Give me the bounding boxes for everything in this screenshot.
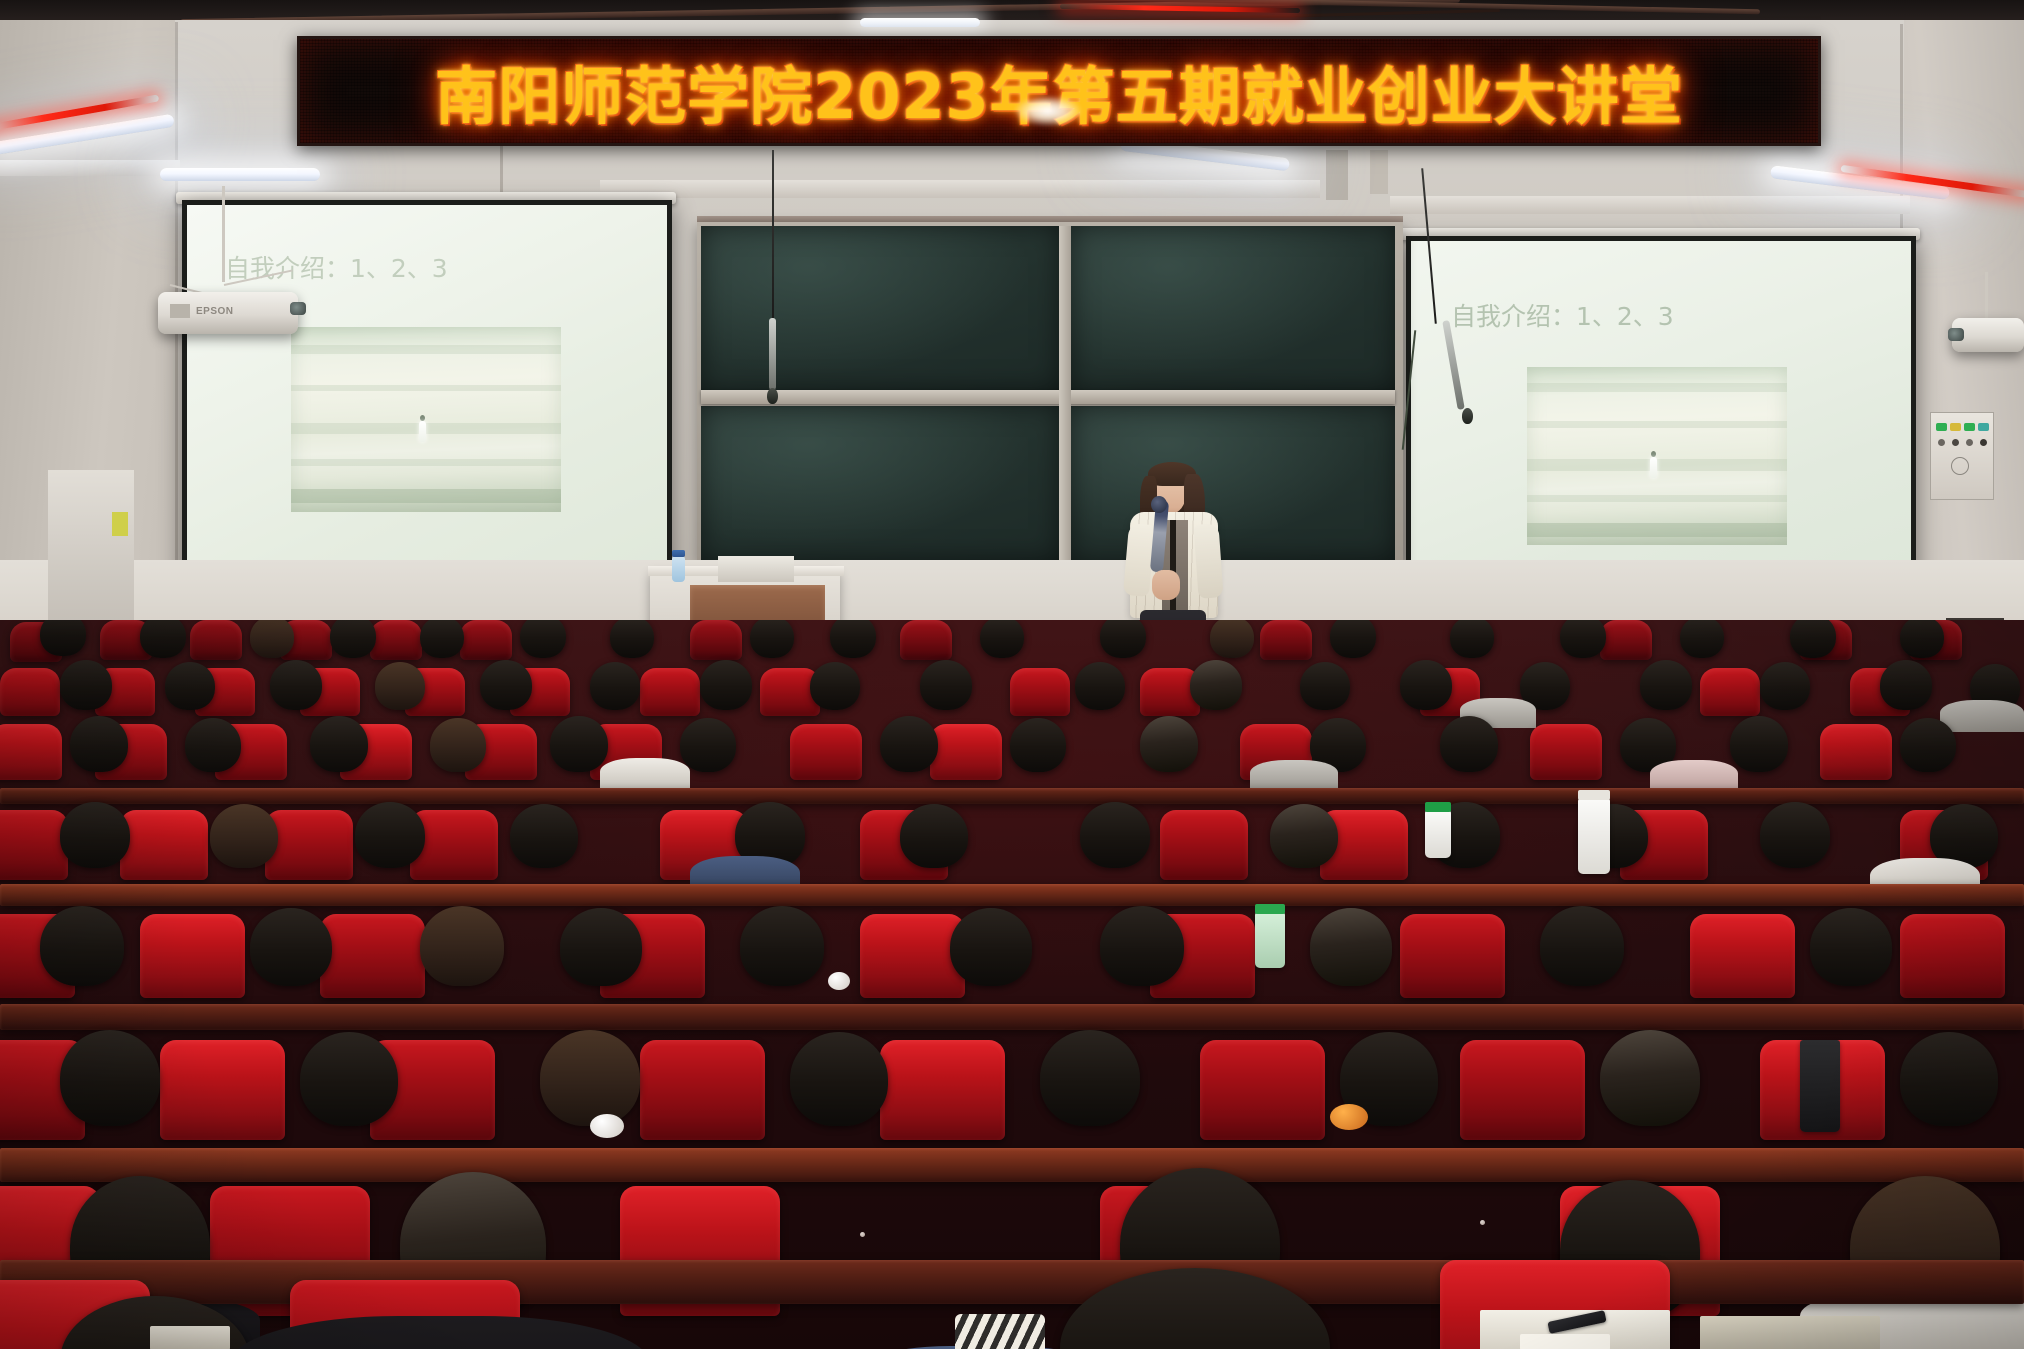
audience-head bbox=[1790, 620, 1836, 658]
wall-panel-left-tag bbox=[112, 512, 128, 536]
hair-tie bbox=[590, 1114, 624, 1138]
soffit-right bbox=[1390, 196, 1910, 214]
beam-bracket-2 bbox=[1370, 150, 1388, 194]
seat[interactable] bbox=[640, 1040, 765, 1140]
audience-head bbox=[950, 908, 1032, 986]
speaker-hands bbox=[1152, 570, 1180, 600]
hanging-mic-body bbox=[769, 318, 776, 390]
left-projector: EPSON bbox=[158, 292, 298, 334]
seat[interactable] bbox=[1690, 914, 1795, 998]
audience-head bbox=[880, 716, 938, 772]
audience-head bbox=[310, 716, 368, 772]
desk-thermos bbox=[1578, 798, 1610, 874]
audience-head bbox=[1330, 620, 1376, 658]
blackboard-panel-top-right bbox=[1071, 226, 1395, 390]
audience-head bbox=[1075, 662, 1125, 710]
right-slide-title: 自我介绍：1、2、3 bbox=[1451, 297, 1674, 333]
audience-head bbox=[1190, 660, 1242, 710]
desk-bottle-cap bbox=[1425, 802, 1451, 812]
desk-paper-left bbox=[150, 1326, 230, 1349]
audience-head bbox=[1100, 906, 1184, 986]
audience-head bbox=[210, 804, 278, 868]
seat[interactable] bbox=[0, 724, 62, 780]
audience-head bbox=[1450, 620, 1494, 658]
audience-head bbox=[430, 718, 486, 772]
blackboard bbox=[697, 222, 1403, 564]
seat[interactable] bbox=[640, 668, 700, 716]
seat[interactable] bbox=[160, 1040, 285, 1140]
audience-head bbox=[375, 662, 425, 710]
audience-head bbox=[590, 662, 640, 710]
audience-head bbox=[60, 660, 112, 710]
left-projector-mount bbox=[222, 186, 225, 282]
left-projector-brand: EPSON bbox=[196, 306, 234, 317]
hanging-mic-cable bbox=[772, 150, 774, 318]
seat[interactable] bbox=[120, 810, 208, 880]
desk-thermos-cap bbox=[1578, 790, 1610, 800]
indicator-yellow bbox=[1950, 423, 1961, 431]
audience-head bbox=[1900, 718, 1956, 772]
right-projector-mount bbox=[1985, 272, 1988, 320]
audience-head bbox=[610, 620, 654, 658]
audience-head bbox=[510, 804, 578, 868]
audience-head bbox=[680, 718, 736, 772]
right-projector-lens bbox=[1948, 328, 1964, 341]
blackboard-chalk-rail bbox=[701, 390, 1395, 404]
audience-head bbox=[60, 1030, 160, 1126]
audience-head bbox=[40, 906, 124, 986]
seat[interactable] bbox=[1160, 810, 1248, 880]
right-projection-screen: 自我介绍：1、2、3 bbox=[1406, 236, 1916, 608]
audience-area bbox=[0, 620, 2024, 1349]
audience-head bbox=[1080, 802, 1150, 868]
seat[interactable] bbox=[880, 1040, 1005, 1140]
audience-head bbox=[1040, 1030, 1140, 1126]
desk-bottle-cap bbox=[1255, 904, 1285, 914]
desk-bottle bbox=[1255, 912, 1285, 968]
audience-head bbox=[790, 1032, 888, 1126]
desk-bottle bbox=[1425, 810, 1451, 858]
seat[interactable] bbox=[1010, 668, 1070, 716]
power-icon[interactable] bbox=[1951, 457, 1969, 475]
audience-head bbox=[1680, 620, 1724, 658]
audience-head bbox=[300, 1032, 398, 1126]
audience-head bbox=[810, 662, 860, 710]
left-screen-surface: 自我介绍：1、2、3 bbox=[187, 205, 667, 595]
audience-head bbox=[1140, 716, 1198, 772]
hair-tie bbox=[1330, 1104, 1368, 1130]
left-projection-screen: 自我介绍：1、2、3 bbox=[182, 200, 672, 600]
audience-head bbox=[185, 718, 241, 772]
light-switch-panel[interactable] bbox=[1930, 412, 1994, 500]
seat[interactable] bbox=[1260, 620, 1312, 660]
speaker-jacket-placket bbox=[1170, 520, 1176, 616]
hair-tie bbox=[828, 972, 850, 990]
seat[interactable] bbox=[1530, 724, 1602, 780]
audience-head bbox=[830, 620, 876, 658]
audience-head bbox=[1600, 1030, 1700, 1126]
audience-head bbox=[1760, 662, 1810, 710]
fluorescent-tube-small-1 bbox=[860, 18, 980, 27]
left-slide-title: 自我介绍：1、2、3 bbox=[225, 249, 448, 285]
audience-head bbox=[750, 620, 794, 658]
blackboard-panel-top-left bbox=[701, 226, 1059, 390]
seat[interactable] bbox=[900, 620, 952, 660]
left-projector-vent bbox=[170, 304, 190, 318]
audience-head bbox=[1310, 908, 1392, 986]
audience-head bbox=[1210, 620, 1254, 658]
row-desk bbox=[0, 1004, 2024, 1030]
desk-thermos bbox=[1800, 1040, 1840, 1132]
audience-head bbox=[920, 660, 972, 710]
audience-head bbox=[1900, 1032, 1998, 1126]
right-screen-surface: 自我介绍：1、2、3 bbox=[1411, 241, 1911, 603]
audience-head bbox=[250, 908, 332, 986]
row-desk bbox=[0, 884, 2024, 906]
seat[interactable] bbox=[1820, 724, 1892, 780]
audience-head bbox=[1400, 660, 1452, 710]
audience-head bbox=[420, 620, 464, 658]
left-slide-photo bbox=[291, 327, 561, 512]
seat[interactable] bbox=[1600, 620, 1652, 660]
audience-head bbox=[540, 1030, 640, 1126]
audience-head bbox=[165, 662, 215, 710]
seat[interactable] bbox=[1460, 1040, 1585, 1140]
fluorescent-tube-left-2 bbox=[160, 168, 320, 181]
audience-head bbox=[420, 906, 504, 986]
switch-button-1[interactable] bbox=[1938, 439, 1945, 446]
podium-bottle-cap bbox=[672, 550, 685, 557]
banner-light-glare bbox=[1015, 96, 1081, 126]
audience-head bbox=[1760, 802, 1830, 868]
hanging-mic-capsule-2 bbox=[1462, 408, 1473, 424]
audience-head bbox=[1540, 906, 1624, 986]
beam-bracket-1 bbox=[1326, 150, 1348, 200]
blackboard-panel-bottom-left bbox=[701, 406, 1059, 560]
audience-head bbox=[1810, 908, 1892, 986]
soffit-left bbox=[0, 160, 180, 176]
audience-head bbox=[900, 804, 968, 868]
audience-head bbox=[355, 802, 425, 868]
podium-monitor bbox=[718, 556, 794, 582]
seat[interactable] bbox=[1400, 914, 1505, 998]
seat[interactable] bbox=[1900, 914, 2005, 998]
desk-paper-striped bbox=[955, 1314, 1045, 1349]
audience-head bbox=[1270, 804, 1338, 868]
audience-head bbox=[560, 908, 642, 986]
seat[interactable] bbox=[320, 914, 425, 998]
row-desk bbox=[0, 788, 2024, 804]
seat[interactable] bbox=[140, 914, 245, 998]
row-desk bbox=[0, 1148, 2024, 1182]
switch-button-2[interactable] bbox=[1952, 439, 1959, 446]
seat[interactable] bbox=[860, 914, 965, 998]
audience-head bbox=[1100, 620, 1146, 658]
desk-item-white bbox=[1520, 1334, 1610, 1349]
seat[interactable] bbox=[190, 620, 242, 660]
audience-shoulders bbox=[600, 758, 690, 792]
audience-head bbox=[250, 620, 294, 658]
audience-head bbox=[480, 660, 532, 710]
desk-notebook-2 bbox=[1700, 1316, 1880, 1349]
audience-head bbox=[550, 716, 608, 772]
blackboard-vertical-divider bbox=[1059, 226, 1071, 560]
blackboard-panel-bottom-right bbox=[1071, 406, 1395, 560]
audience-head bbox=[1300, 662, 1350, 710]
indicator-green-1 bbox=[1936, 423, 1947, 431]
seat[interactable] bbox=[1700, 668, 1760, 716]
audience-head bbox=[1900, 620, 1944, 658]
seat[interactable] bbox=[690, 620, 742, 660]
podium-bottle bbox=[672, 556, 685, 582]
audience-head bbox=[700, 660, 752, 710]
seat-stud bbox=[860, 1232, 865, 1237]
seat-stud bbox=[1480, 1220, 1485, 1225]
seat[interactable] bbox=[1200, 1040, 1325, 1140]
audience-head bbox=[980, 620, 1024, 658]
audience-head bbox=[740, 906, 824, 986]
audience-head bbox=[330, 620, 376, 658]
right-slide-photo bbox=[1527, 367, 1787, 545]
soffit-center bbox=[600, 180, 1320, 198]
speaker-microphone-head bbox=[1151, 496, 1167, 513]
indicator-green-2 bbox=[1964, 423, 1975, 431]
audience-head bbox=[1010, 718, 1066, 772]
seat[interactable] bbox=[0, 668, 60, 716]
audience-head bbox=[520, 620, 566, 658]
audience-head bbox=[1640, 660, 1692, 710]
audience-head bbox=[70, 716, 128, 772]
seat[interactable] bbox=[370, 620, 422, 660]
audience-head bbox=[1730, 716, 1788, 772]
seat[interactable] bbox=[0, 810, 68, 880]
hanging-mic-capsule bbox=[767, 388, 778, 404]
seat[interactable] bbox=[460, 620, 512, 660]
audience-head bbox=[40, 620, 86, 656]
lecture-hall-photo: 南阳师范学院2023年第五期就业创业大讲堂 自我介绍：1、2、3 自我介绍：1、… bbox=[0, 0, 2024, 1349]
switch-button-3[interactable] bbox=[1966, 439, 1973, 446]
seat[interactable] bbox=[790, 724, 862, 780]
audience-head bbox=[140, 620, 186, 658]
speaker-arm-right bbox=[1193, 523, 1223, 599]
seat[interactable] bbox=[265, 810, 353, 880]
seat[interactable] bbox=[930, 724, 1002, 780]
audience-shoulders bbox=[1940, 700, 2024, 732]
led-banner: 南阳师范学院2023年第五期就业创业大讲堂 bbox=[297, 36, 1821, 146]
audience-head bbox=[1560, 620, 1606, 658]
audience-head bbox=[60, 802, 130, 868]
audience-head bbox=[1880, 660, 1932, 710]
left-projector-lens bbox=[290, 302, 306, 315]
audience-head bbox=[270, 660, 322, 710]
indicator-green-3 bbox=[1978, 423, 1989, 431]
switch-button-4[interactable] bbox=[1980, 439, 1987, 446]
audience-head bbox=[1440, 716, 1498, 772]
